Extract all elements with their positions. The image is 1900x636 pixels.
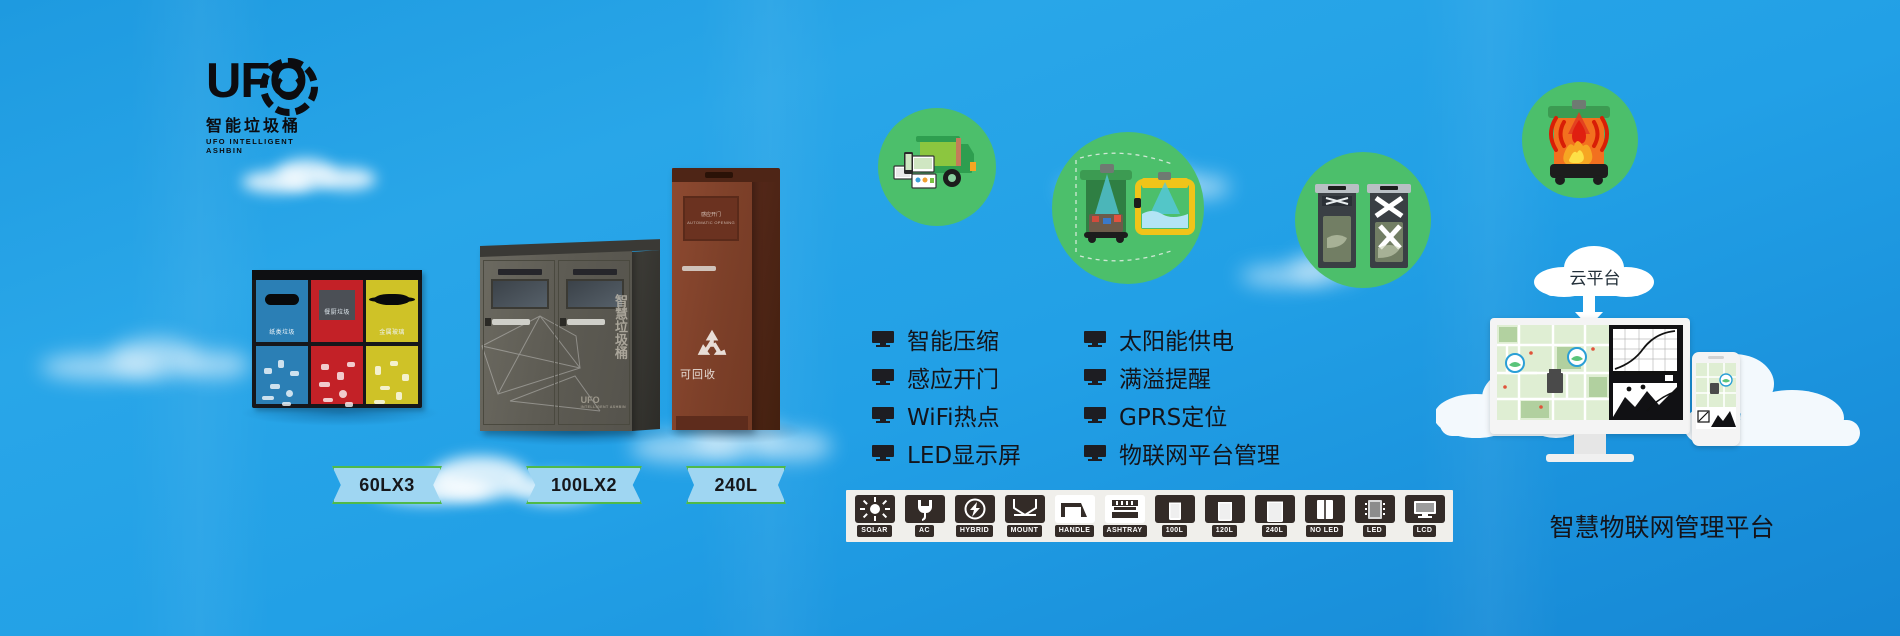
lcd-screen-icon	[1405, 495, 1445, 523]
feature-label: 物联网平台管理	[1119, 436, 1280, 470]
feature-label: GPRS定位	[1119, 398, 1227, 432]
spec-label: NO LED	[1306, 525, 1343, 537]
bin-handle[interactable]	[682, 266, 716, 271]
spec-label: HYBRID	[956, 525, 993, 537]
bin-ultrasonic-fill-sensor-icon	[1062, 152, 1196, 268]
cloud-platform-badge: 云平台	[1540, 248, 1650, 300]
bin-recycle-label: 可回收	[672, 366, 724, 382]
compartment-upper-panel: 餐厨垃圾	[311, 280, 363, 342]
spec-label: 100L	[1162, 525, 1188, 537]
compartment-lower-panel	[366, 346, 418, 404]
logo-chinese-name: 智能垃圾桶	[206, 112, 316, 136]
spec-item-ashtray[interactable]: ASHTRAY	[1102, 495, 1147, 537]
bin-logo-mark: UFO INTELLIGENT ASHBIN	[581, 395, 626, 409]
litter-graphic	[256, 346, 308, 404]
bin-compartment-kitchen: 餐厨垃圾	[311, 280, 363, 404]
compartment-upper-panel: 金属玻璃	[366, 280, 418, 342]
spec-label: 120L	[1212, 525, 1238, 537]
phone-screen	[1696, 363, 1736, 429]
monitor-icon	[872, 331, 894, 347]
slot-opening-icon	[265, 294, 299, 305]
feature-item: 满溢提醒	[1084, 358, 1280, 396]
litter-graphic	[311, 346, 363, 404]
sun-icon	[855, 495, 895, 523]
monitor-screen	[1497, 325, 1683, 420]
lcd-strip	[498, 269, 542, 275]
spec-label: MOUNT	[1007, 525, 1043, 537]
spec-label: LCD	[1413, 525, 1437, 537]
feature-item: 智能压缩	[872, 320, 1021, 358]
spec-label: SOLAR	[857, 525, 892, 537]
feature-label: 感应开门	[907, 360, 999, 394]
spec-item-solar[interactable]: SOLAR	[852, 495, 897, 537]
feature-column-left: 智能压缩 感应开门 WiFi热点 LED显示屏	[872, 320, 1021, 472]
monitor-icon	[872, 407, 894, 423]
round-opening-icon	[374, 294, 410, 305]
product-single-brown-bin: 感应开门 AUTOMATIC OPENING 可回收	[672, 168, 780, 430]
no-led-panel-icon	[1305, 495, 1345, 523]
power-plug-icon	[905, 495, 945, 523]
bin-compartment-paper: 纸类垃圾	[256, 280, 308, 404]
smartphone	[1692, 352, 1740, 446]
feature-label: 太阳能供电	[1119, 322, 1234, 356]
spec-item-handle[interactable]: HANDLE	[1052, 495, 1097, 537]
feature-label: 智能压缩	[907, 322, 999, 356]
spec-label: HANDLE	[1055, 525, 1095, 537]
brand-logo: UFO 智能垃圾桶 UFO INTELLIGENT ASHBIN	[206, 58, 316, 150]
lightning-circle-icon	[955, 495, 995, 523]
bin-logo-text: UFO	[581, 395, 600, 405]
wall-mount-icon	[1005, 495, 1045, 523]
spec-item-100l[interactable]: 100L	[1152, 495, 1197, 537]
recycle-icon	[694, 328, 730, 362]
litter-graphic	[366, 346, 418, 404]
spec-item-lcd[interactable]: LCD	[1402, 495, 1447, 537]
dashboard-graphic	[1497, 325, 1683, 420]
feature-column-right: 太阳能供电 满溢提醒 GPRS定位 物联网平台管理	[1084, 320, 1280, 472]
handle-icon	[1055, 495, 1095, 523]
cloud-platform-label: 云平台	[1540, 264, 1650, 289]
monitor-icon	[1084, 407, 1106, 423]
bin-base	[676, 416, 748, 430]
spec-label: ASHTRAY	[1103, 525, 1147, 537]
feature-label: WiFi热点	[907, 398, 1000, 432]
bin-handle-left[interactable]	[492, 319, 530, 325]
platform-caption: 智慧物联网管理平台	[1472, 508, 1852, 544]
spec-label: AC	[915, 525, 934, 537]
bin-120l-icon	[1205, 495, 1245, 523]
bin-door-left[interactable]	[483, 260, 555, 425]
product-three-colour-bin: 纸类垃圾 餐厨垃圾	[252, 270, 422, 408]
compartment-upper-panel: 纸类垃圾	[256, 280, 308, 342]
feature-item: LED显示屏	[872, 434, 1021, 472]
bin-100l-icon	[1155, 495, 1195, 523]
monitor-icon	[1084, 369, 1106, 385]
twin-compaction-bin-icon	[1312, 178, 1416, 272]
feature-item: 物联网平台管理	[1084, 434, 1280, 472]
feature-label: 满溢提醒	[1119, 360, 1211, 394]
desktop-monitor	[1490, 318, 1690, 468]
capacity-banner-60lx3: 60LX3	[332, 466, 442, 504]
spec-label: LED	[1363, 525, 1386, 537]
bin-info-window: 感应开门 AUTOMATIC OPENING	[683, 196, 739, 241]
feature-item: WiFi热点	[872, 396, 1021, 434]
compartment-screen: 餐厨垃圾	[317, 288, 357, 322]
monitor-icon	[872, 369, 894, 385]
monitor-foot	[1546, 454, 1634, 462]
product-twin-smart-bin: 智慧垃圾桶 UFO INTELLIGENT ASHBIN	[480, 246, 660, 431]
bin-side-panel	[752, 176, 780, 430]
garbage-truck-with-devices-icon	[890, 130, 986, 206]
spec-item-120l[interactable]: 120L	[1202, 495, 1247, 537]
monitor-icon	[1084, 331, 1106, 347]
bin-side-panel	[632, 250, 660, 431]
lcd-strip	[573, 269, 617, 275]
spec-item-no-led[interactable]: NO LED	[1302, 495, 1347, 537]
bin-top-cap	[672, 168, 780, 182]
monitor-icon	[1084, 445, 1106, 461]
compartment-label: 餐厨垃圾	[319, 307, 355, 316]
phone-dashboard-graphic	[1696, 363, 1736, 429]
spec-label: 240L	[1262, 525, 1288, 537]
feature-item: 太阳能供电	[1084, 320, 1280, 358]
monitor-neck	[1574, 434, 1606, 456]
ashtray-icon	[1105, 495, 1145, 523]
monitor-icon	[872, 445, 894, 461]
logo-english-tagline: UFO INTELLIGENT ASHBIN	[206, 137, 316, 155]
phone-speaker	[1708, 356, 1724, 359]
compartment-lower-panel	[311, 346, 363, 404]
bin-logo-subtext: INTELLIGENT ASHBIN	[581, 405, 626, 409]
bin-panel-cn: 感应开门	[685, 211, 737, 218]
feature-item: GPRS定位	[1084, 396, 1280, 434]
spec-item-mount[interactable]: MOUNT	[1002, 495, 1047, 537]
bin-vent-grill	[705, 172, 733, 178]
capacity-banner-240l: 240L	[686, 466, 786, 504]
capacity-banner-100lx2: 100LX2	[526, 466, 642, 504]
ufo-bearing-ring-icon	[260, 58, 318, 116]
compartment-label: 金属玻璃	[366, 327, 418, 336]
compartment-label: 纸类垃圾	[256, 327, 308, 336]
bin-compartment-metal-glass: 金属玻璃	[366, 280, 418, 404]
spec-item-led[interactable]: LED	[1352, 495, 1397, 537]
feature-item: 感应开门	[872, 358, 1021, 396]
bin-240l-icon	[1255, 495, 1295, 523]
bin-window-left	[491, 279, 549, 309]
bin-body: 智慧垃圾桶 UFO INTELLIGENT ASHBIN	[480, 246, 632, 431]
bin-vertical-text: 智慧垃圾桶	[612, 294, 628, 359]
spec-item-hybrid[interactable]: HYBRID	[952, 495, 997, 537]
led-panel-icon	[1355, 495, 1395, 523]
poster-canvas: UFO 智能垃圾桶 UFO INTELLIGENT ASHBIN 纸类垃圾	[0, 0, 1900, 636]
cloud	[232, 155, 382, 197]
bin-panel-en: AUTOMATIC OPENING	[685, 220, 737, 225]
spec-icon-strip: SOLAR AC HYBRID MOUNT	[846, 490, 1453, 542]
spec-item-ac[interactable]: AC	[902, 495, 947, 537]
bin-handle-right[interactable]	[567, 319, 605, 325]
cloud	[40, 330, 250, 390]
bin-fire-alarm-icon	[1534, 98, 1626, 186]
bin-body: 感应开门 AUTOMATIC OPENING 可回收	[672, 168, 752, 430]
feature-label: LED显示屏	[907, 436, 1021, 470]
spec-item-240l[interactable]: 240L	[1252, 495, 1297, 537]
bin-top-rail	[252, 270, 422, 280]
compartment-lower-panel	[256, 346, 308, 404]
